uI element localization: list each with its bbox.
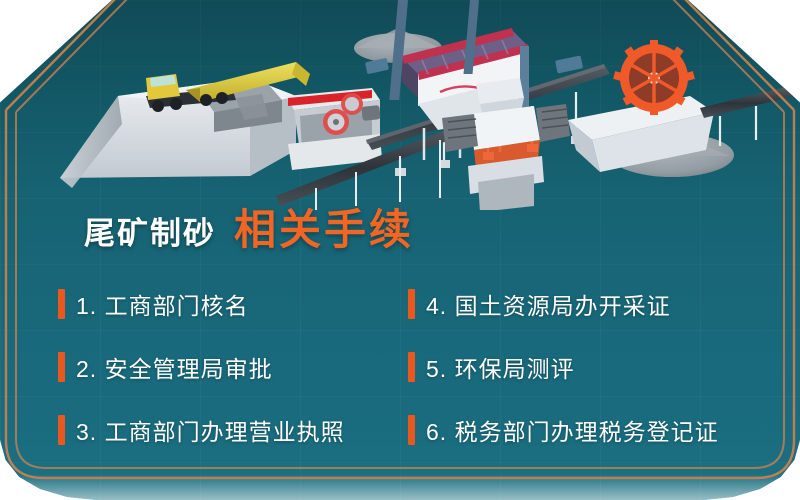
gravel-pile-right — [610, 130, 734, 177]
bullet-marker-icon — [58, 352, 65, 382]
vibrating-screen — [389, 0, 529, 160]
list-item: 1. 工商部门核名 — [58, 287, 408, 321]
bullet-marker-icon — [408, 289, 415, 319]
list-item: 3. 工商部门办理营业执照 — [58, 413, 408, 447]
headline-emphasis: 相关手续 — [234, 196, 414, 257]
sand-washer-wheel — [568, 40, 794, 172]
transfer-chute — [365, 55, 583, 74]
procedure-list: 1. 工商部门核名 4. 国土资源局办开采证 2. 安全管理局审批 5. 环保局… — [58, 272, 758, 461]
headline: 尾矿制砂 相关手续 — [84, 196, 414, 257]
procedure-label: 2. 安全管理局审批 — [76, 350, 273, 384]
gravel-pile-left — [354, 28, 442, 63]
procedure-label: 5. 环保局测评 — [426, 350, 575, 384]
jaw-crusher — [286, 88, 382, 170]
poster-root: 尾矿制砂 相关手续 1. 工商部门核名 4. 国土资源局办开采证 2. 安全管理… — [0, 0, 800, 500]
bullet-marker-icon — [58, 415, 65, 445]
top-shade-overlay — [0, 0, 800, 190]
procedure-label: 1. 工商部门核名 — [76, 287, 249, 321]
list-item: 6. 税务部门办理税务登记证 — [408, 413, 758, 447]
list-item: 5. 环保局测评 — [408, 350, 758, 384]
feed-ramp-platform — [60, 78, 296, 188]
list-item: 4. 国土资源局办开采证 — [408, 287, 758, 321]
procedure-label: 6. 税务部门办理税务登记证 — [426, 413, 719, 447]
procedure-label: 4. 国土资源局办开采证 — [426, 287, 671, 321]
headline-prefix: 尾矿制砂 — [84, 208, 216, 253]
bullet-marker-icon — [408, 352, 415, 382]
production-line-illustration — [0, 0, 800, 210]
procedure-label: 3. 工商部门办理营业执照 — [76, 413, 345, 447]
list-item: 2. 安全管理局审批 — [58, 350, 408, 384]
belt-conveyor-main — [366, 64, 610, 176]
bullet-marker-icon — [58, 289, 65, 319]
bottom-glow-overlay — [0, 474, 800, 500]
dump-truck — [146, 62, 310, 120]
sand-making-machine — [442, 78, 570, 210]
bullet-marker-icon — [408, 415, 415, 445]
